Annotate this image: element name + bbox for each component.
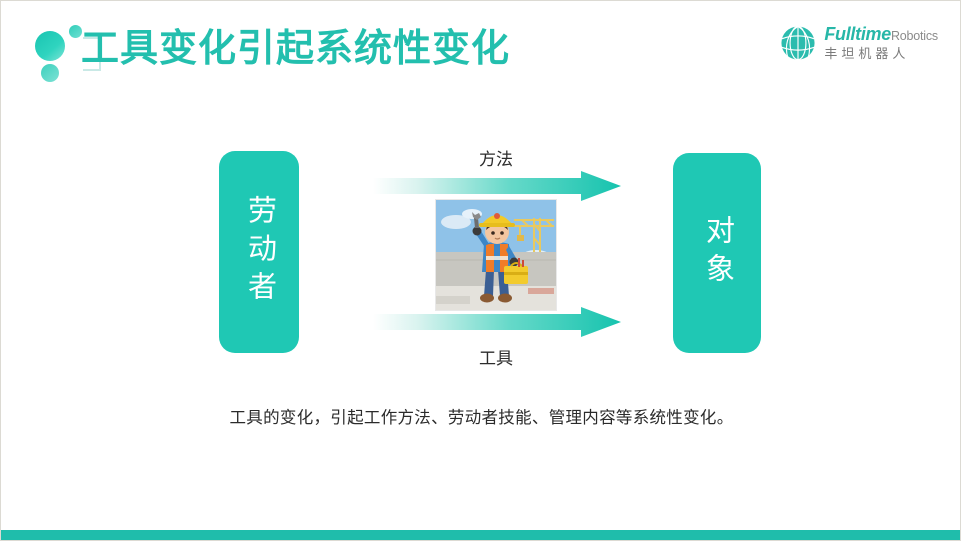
worker-node: 劳动者 — [219, 151, 299, 353]
slide-caption: 工具的变化，引起工作方法、劳动者技能、管理内容等系统性变化。 — [1, 404, 961, 428]
slide-canvas: 工具变化引起系统性变化 FulltimeRobotics 丰坦机器人 劳动者 — [0, 0, 961, 541]
arrow-tool-label: 工具 — [416, 344, 576, 369]
object-node-label: 对象 — [703, 215, 732, 291]
bottom-accent-bar — [1, 530, 961, 540]
arrow-method-icon — [373, 171, 621, 201]
worker-node-label: 劳动者 — [245, 195, 274, 309]
construction-worker-illustration — [435, 199, 557, 311]
object-node: 对象 — [673, 153, 761, 353]
diagram-area: 劳动者 对象 方法 工具 — [1, 1, 961, 541]
arrow-method-label: 方法 — [416, 145, 576, 170]
construction-worker-image — [436, 200, 556, 310]
arrow-tool-icon — [373, 307, 621, 337]
